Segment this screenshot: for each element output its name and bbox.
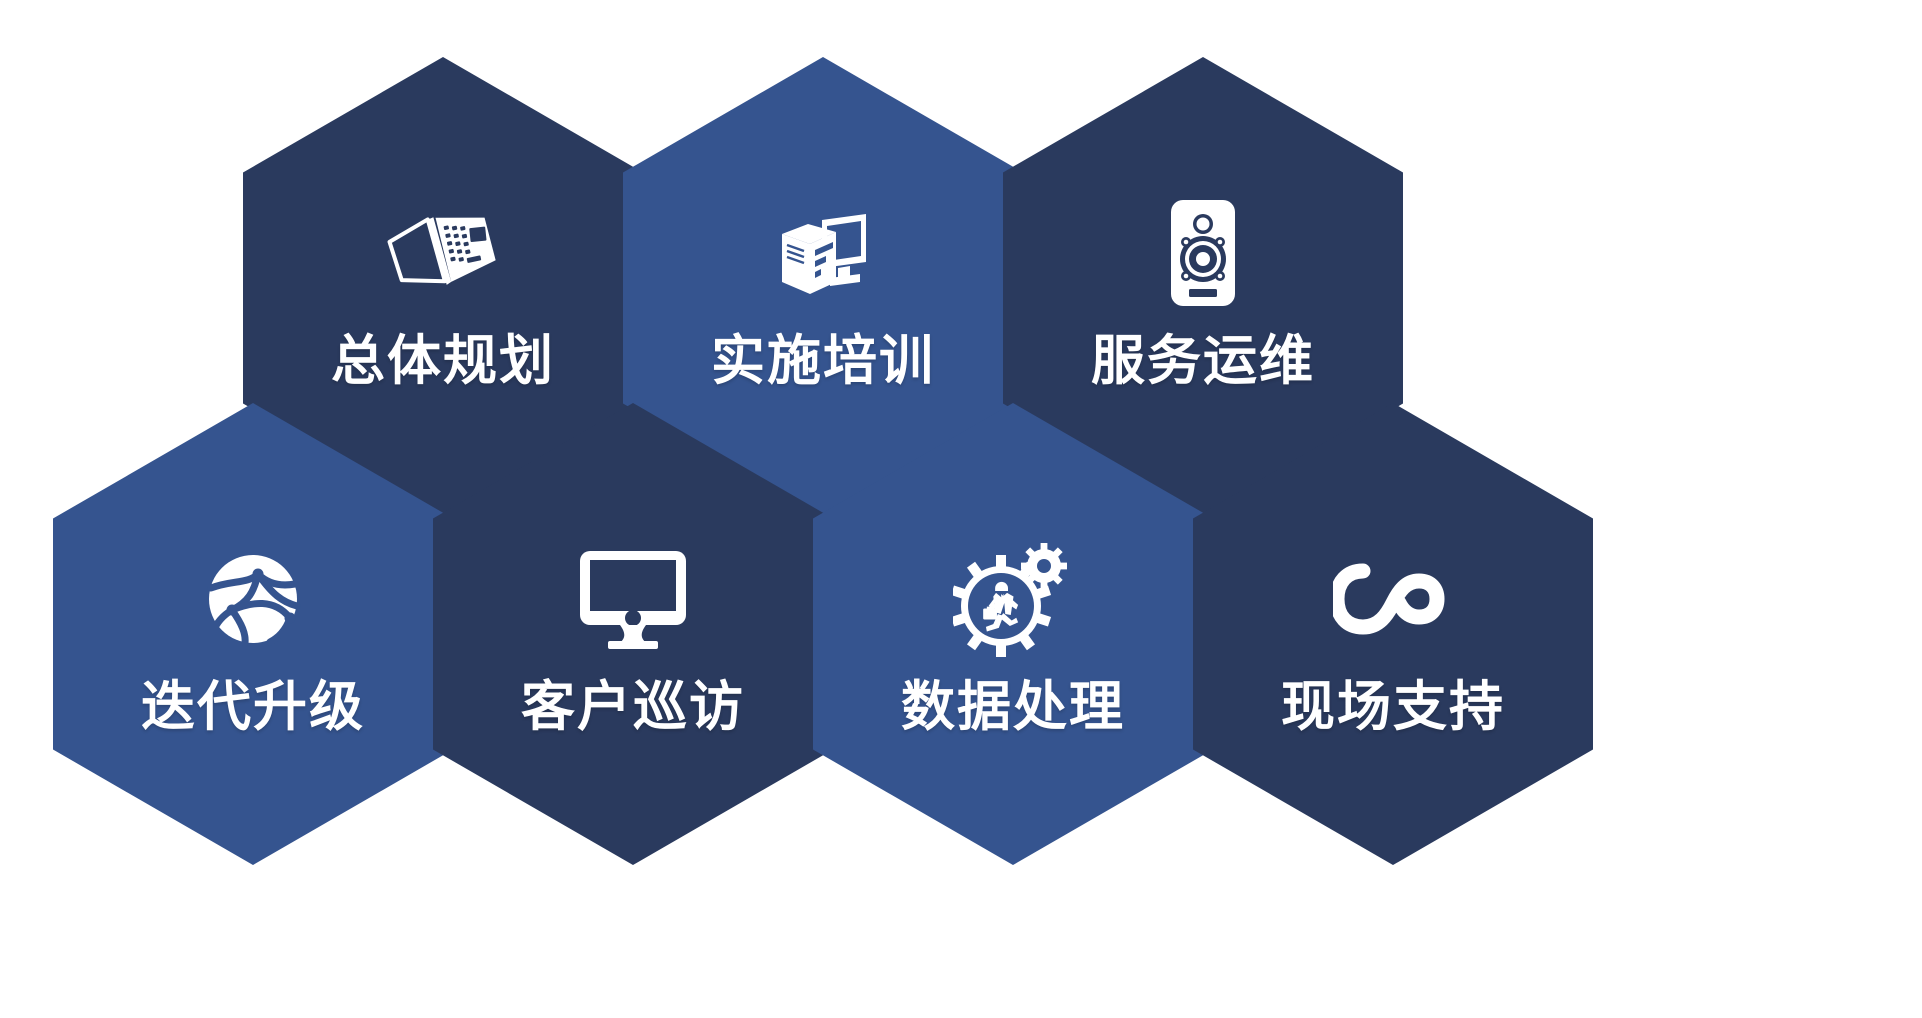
hexagon-label: 数据处理	[901, 680, 1125, 734]
hexagon-diagram-canvas: 总体规划	[0, 0, 1922, 1018]
gear-businessman-icon	[948, 534, 1078, 664]
infinity-icon	[1328, 534, 1458, 664]
hexagon-label: 迭代升级	[141, 680, 365, 734]
hexagon-label: 服务运维	[1091, 334, 1315, 388]
hexagon-label: 总体规划	[331, 334, 555, 388]
monitor-icon	[568, 534, 698, 664]
globe-network-icon	[188, 534, 318, 664]
laptop-open-icon	[378, 188, 508, 318]
hexagon-label: 实施培训	[711, 334, 935, 388]
hexagon-label: 客户巡访	[521, 680, 745, 734]
desktop-tower-icon	[758, 188, 888, 318]
speaker-icon	[1138, 188, 1268, 318]
hexagon-label: 现场支持	[1281, 680, 1505, 734]
